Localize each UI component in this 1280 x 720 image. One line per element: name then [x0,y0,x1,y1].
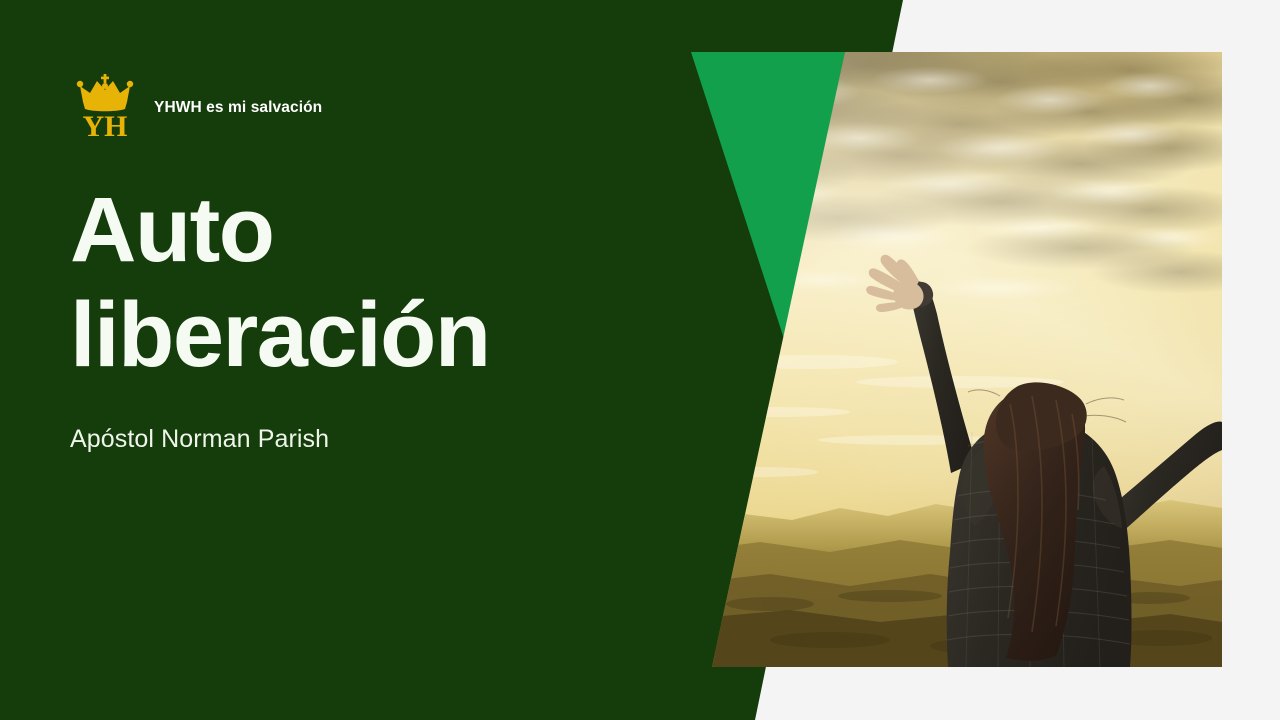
speaker-name: Apóstol Norman Parish [70,425,329,454]
crown-icon: YH [70,72,140,138]
page-title-line-2: liberación [70,283,670,388]
brand-logo: YH YHWH es mi salvación [70,72,322,138]
crown-monogram-artwork: YH [70,72,140,138]
page-title: Auto liberación [70,178,670,388]
logo-monogram-text: YH [83,110,128,138]
logo-tagline: YHWH es mi salvación [154,93,322,117]
page-title-line-1: Auto [70,178,670,283]
slide-canvas: YH YHWH es mi salvación Auto liberación … [0,0,1280,720]
